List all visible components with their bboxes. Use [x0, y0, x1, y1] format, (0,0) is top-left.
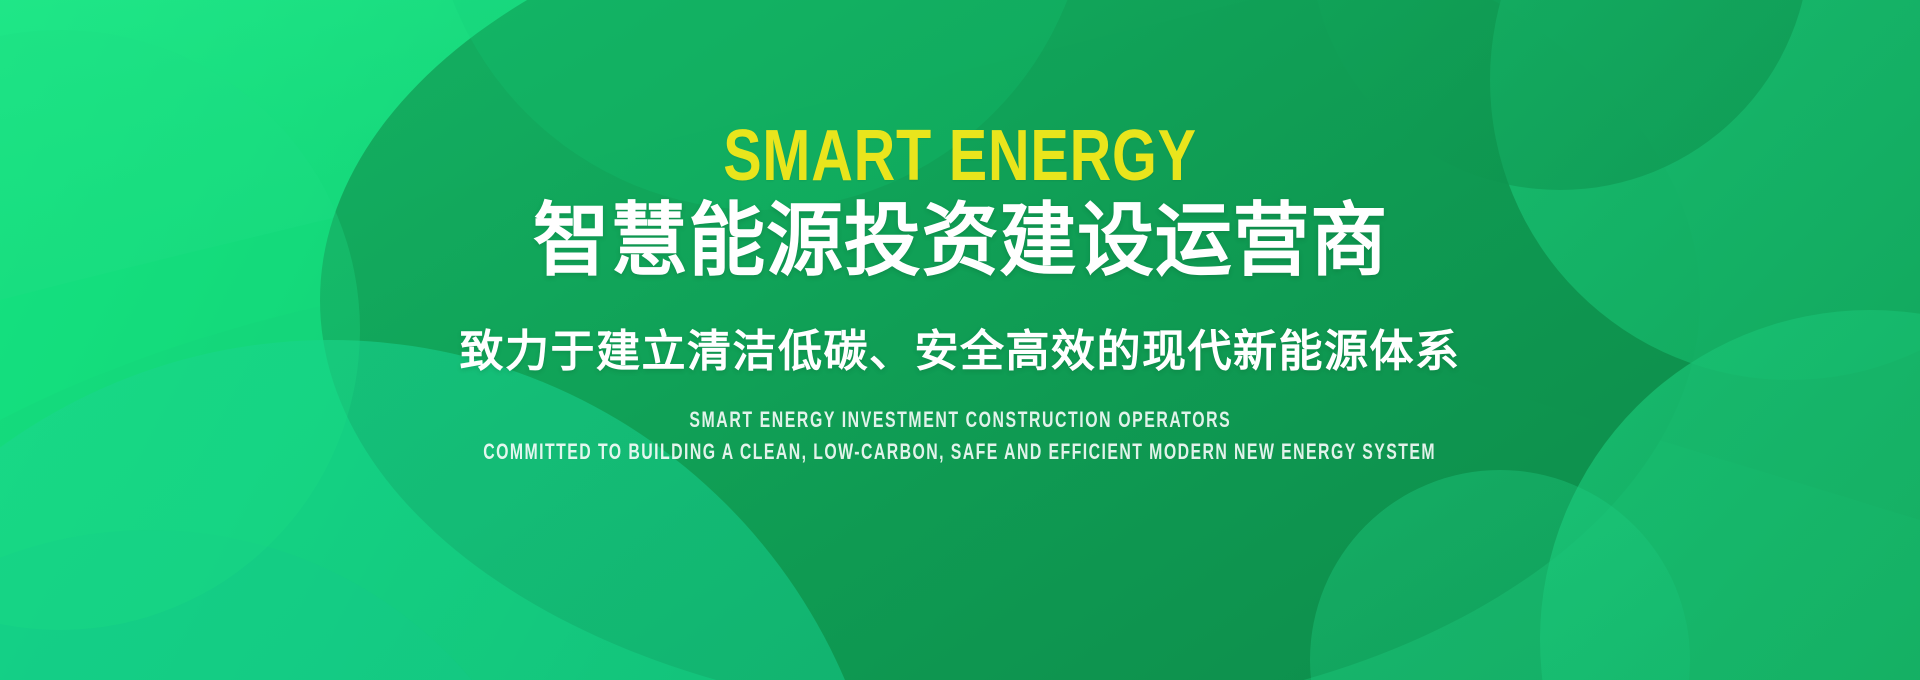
banner-subtitle-english-line2: COMMITTED TO BUILDING A CLEAN, LOW-CARBO… [484, 439, 1437, 465]
banner-subtitle-chinese: 致力于建立清洁低碳、安全高效的现代新能源体系 [460, 326, 1461, 379]
banner-subtitle-english-line1: SMART ENERGY INVESTMENT CONSTRUCTION OPE… [689, 407, 1231, 433]
banner-title-english: SMART ENERGY [723, 120, 1197, 192]
banner-title-chinese: 智慧能源投资建设运营商 [532, 198, 1387, 284]
smart-energy-banner: SMART ENERGY 智慧能源投资建设运营商 致力于建立清洁低碳、安全高效的… [0, 0, 1920, 680]
banner-content: SMART ENERGY 智慧能源投资建设运营商 致力于建立清洁低碳、安全高效的… [0, 0, 1920, 680]
